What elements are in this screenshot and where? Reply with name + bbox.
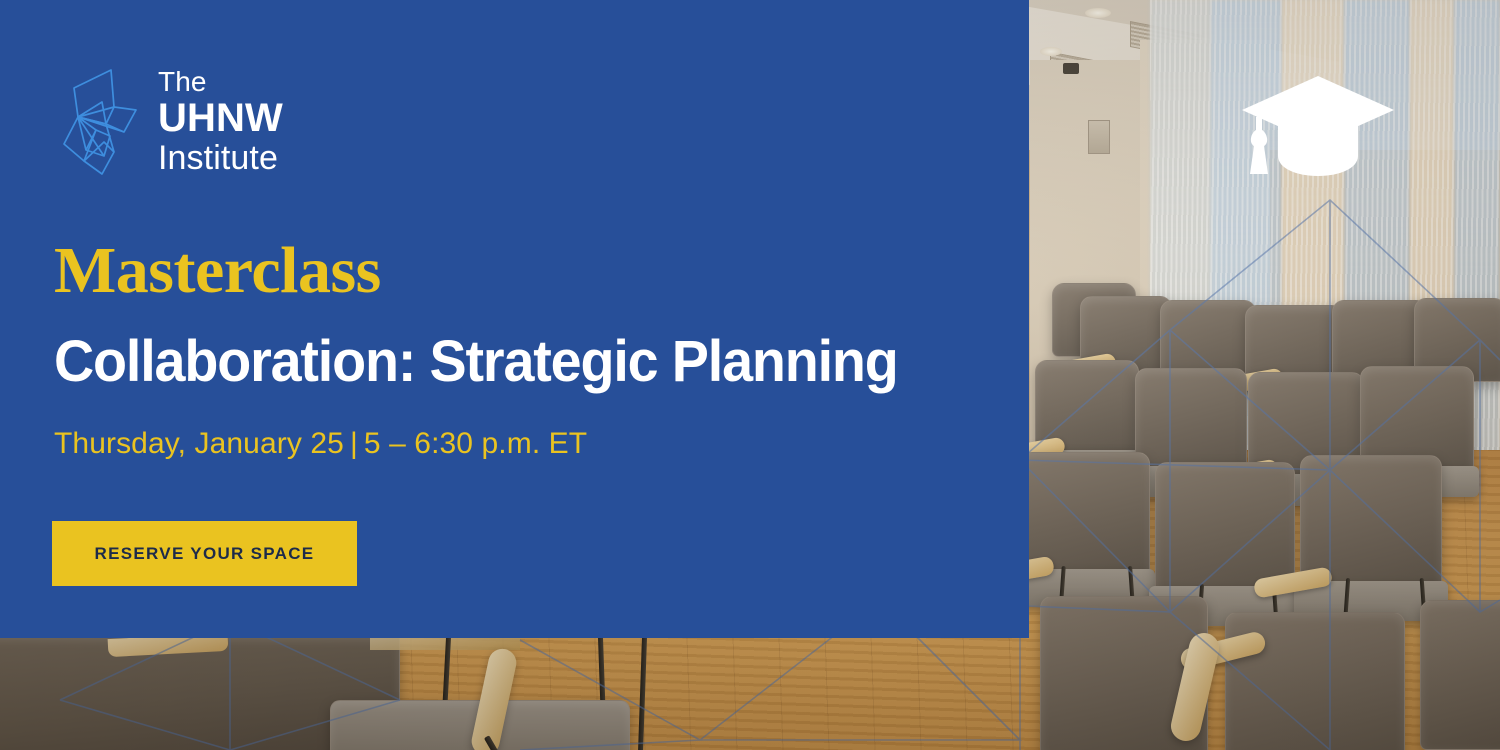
event-promo-banner: The UHNW Institute Masterclass Collabora…	[0, 0, 1500, 750]
uhnw-abstract-origami-mark	[62, 66, 140, 178]
logo-line-institute: Institute	[158, 140, 283, 177]
eyebrow-masterclass: Masterclass	[54, 238, 381, 304]
datetime-separator: |	[344, 427, 364, 460]
logo-line-the: The	[158, 67, 283, 97]
logo-line-uhnw: UHNW	[158, 97, 283, 140]
graduation-cap-icon	[1238, 70, 1398, 185]
blue-content-panel: The UHNW Institute Masterclass Collabora…	[0, 0, 1029, 638]
event-date: Thursday, January 25	[54, 427, 344, 460]
logo-wordmark: The UHNW Institute	[158, 67, 283, 177]
event-time: 5 – 6:30 p.m. ET	[364, 427, 587, 460]
uhnw-institute-logo[interactable]: The UHNW Institute	[62, 66, 283, 178]
event-datetime: Thursday, January 25|5 – 6:30 p.m. ET	[54, 425, 587, 463]
cta-label: RESERVE YOUR SPACE	[95, 544, 315, 564]
reserve-your-space-button[interactable]: RESERVE YOUR SPACE	[52, 521, 357, 586]
page-title: Collaboration: Strategic Planning	[54, 333, 898, 391]
